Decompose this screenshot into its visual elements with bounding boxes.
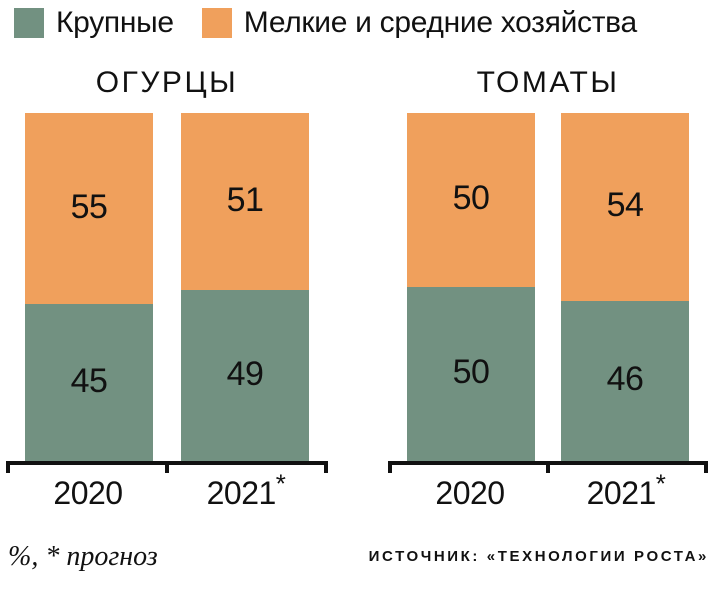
bar-segment-large[interactable]: 45 <box>25 304 153 461</box>
bar-segment-large[interactable]: 49 <box>181 290 309 461</box>
bar-segment-small-medium[interactable]: 51 <box>181 113 309 290</box>
bar-value-label: 51 <box>227 183 264 217</box>
axis-label-text: 2021 <box>587 475 656 511</box>
axis-label-2021: 2021* <box>548 475 704 511</box>
chart-panel-cucumbers: ОГУРЦЫ 55 45 51 49 <box>6 66 328 511</box>
bar-segment-small-medium[interactable]: 55 <box>25 113 153 304</box>
bar-value-label: 54 <box>607 188 644 222</box>
x-axis-labels-cucumbers: 2020 2021* <box>6 475 328 511</box>
axis-label-2020: 2020 <box>392 475 548 511</box>
axis-tick-middle <box>546 461 550 473</box>
bar-segment-large[interactable]: 50 <box>407 287 535 461</box>
bar-group-tomatoes: 50 50 54 46 <box>388 113 708 461</box>
legend-item-small-medium: Мелкие и средние хозяйства <box>202 8 637 38</box>
bar-value-label: 49 <box>227 357 264 391</box>
panel-title-tomatoes: ТОМАТЫ <box>388 66 708 100</box>
bar-group-cucumbers: 55 45 51 49 <box>6 113 328 461</box>
axis-label-text: 2021 <box>207 475 276 511</box>
stacked-bar-cucumbers-2020[interactable]: 55 45 <box>25 113 153 461</box>
axis-label-text: 2020 <box>53 475 122 511</box>
stacked-bar-tomatoes-2020[interactable]: 50 50 <box>407 113 535 461</box>
bar-segment-small-medium[interactable]: 50 <box>407 113 535 287</box>
axis-tick-middle <box>165 461 169 473</box>
plot-area-tomatoes: 50 50 54 46 <box>388 113 708 461</box>
legend-swatch-orange-icon <box>202 8 232 38</box>
bar-value-label: 50 <box>453 181 490 215</box>
bar-segment-large[interactable]: 46 <box>561 301 689 461</box>
axis-tick-end <box>704 461 708 473</box>
x-axis-cucumbers <box>6 461 328 473</box>
bar-value-label: 46 <box>607 362 644 396</box>
legend-item-large: Крупные <box>14 8 174 38</box>
legend-label-small-medium: Мелкие и средние хозяйства <box>244 8 637 38</box>
axis-tick-start <box>388 461 392 473</box>
chart-source: ИСТОЧНИК: «ТЕХНОЛОГИИ РОСТА» <box>369 548 709 566</box>
panel-title-cucumbers: ОГУРЦЫ <box>6 66 328 100</box>
chart-panel-tomatoes: ТОМАТЫ 50 50 54 46 <box>388 66 708 511</box>
x-axis-tomatoes <box>388 461 708 473</box>
bar-value-label: 55 <box>71 190 108 224</box>
plot-area-cucumbers: 55 45 51 49 <box>6 113 328 461</box>
chart-footnote: %, * прогноз <box>8 541 158 573</box>
x-axis-labels-tomatoes: 2020 2021* <box>388 475 708 511</box>
bar-segment-small-medium[interactable]: 54 <box>561 113 689 301</box>
chart-legend: Крупные Мелкие и средние хозяйства <box>14 8 637 38</box>
axis-tick-end <box>324 461 328 473</box>
bar-value-label: 45 <box>71 364 108 398</box>
legend-label-large: Крупные <box>56 8 174 38</box>
bar-value-label: 50 <box>453 355 490 389</box>
stacked-bar-cucumbers-2021[interactable]: 51 49 <box>181 113 309 461</box>
legend-swatch-green-icon <box>14 8 44 38</box>
axis-label-text: 2020 <box>435 475 504 511</box>
stacked-bar-tomatoes-2021[interactable]: 54 46 <box>561 113 689 461</box>
axis-tick-start <box>6 461 10 473</box>
axis-label-2021: 2021* <box>168 475 324 511</box>
axis-label-2020: 2020 <box>10 475 166 511</box>
